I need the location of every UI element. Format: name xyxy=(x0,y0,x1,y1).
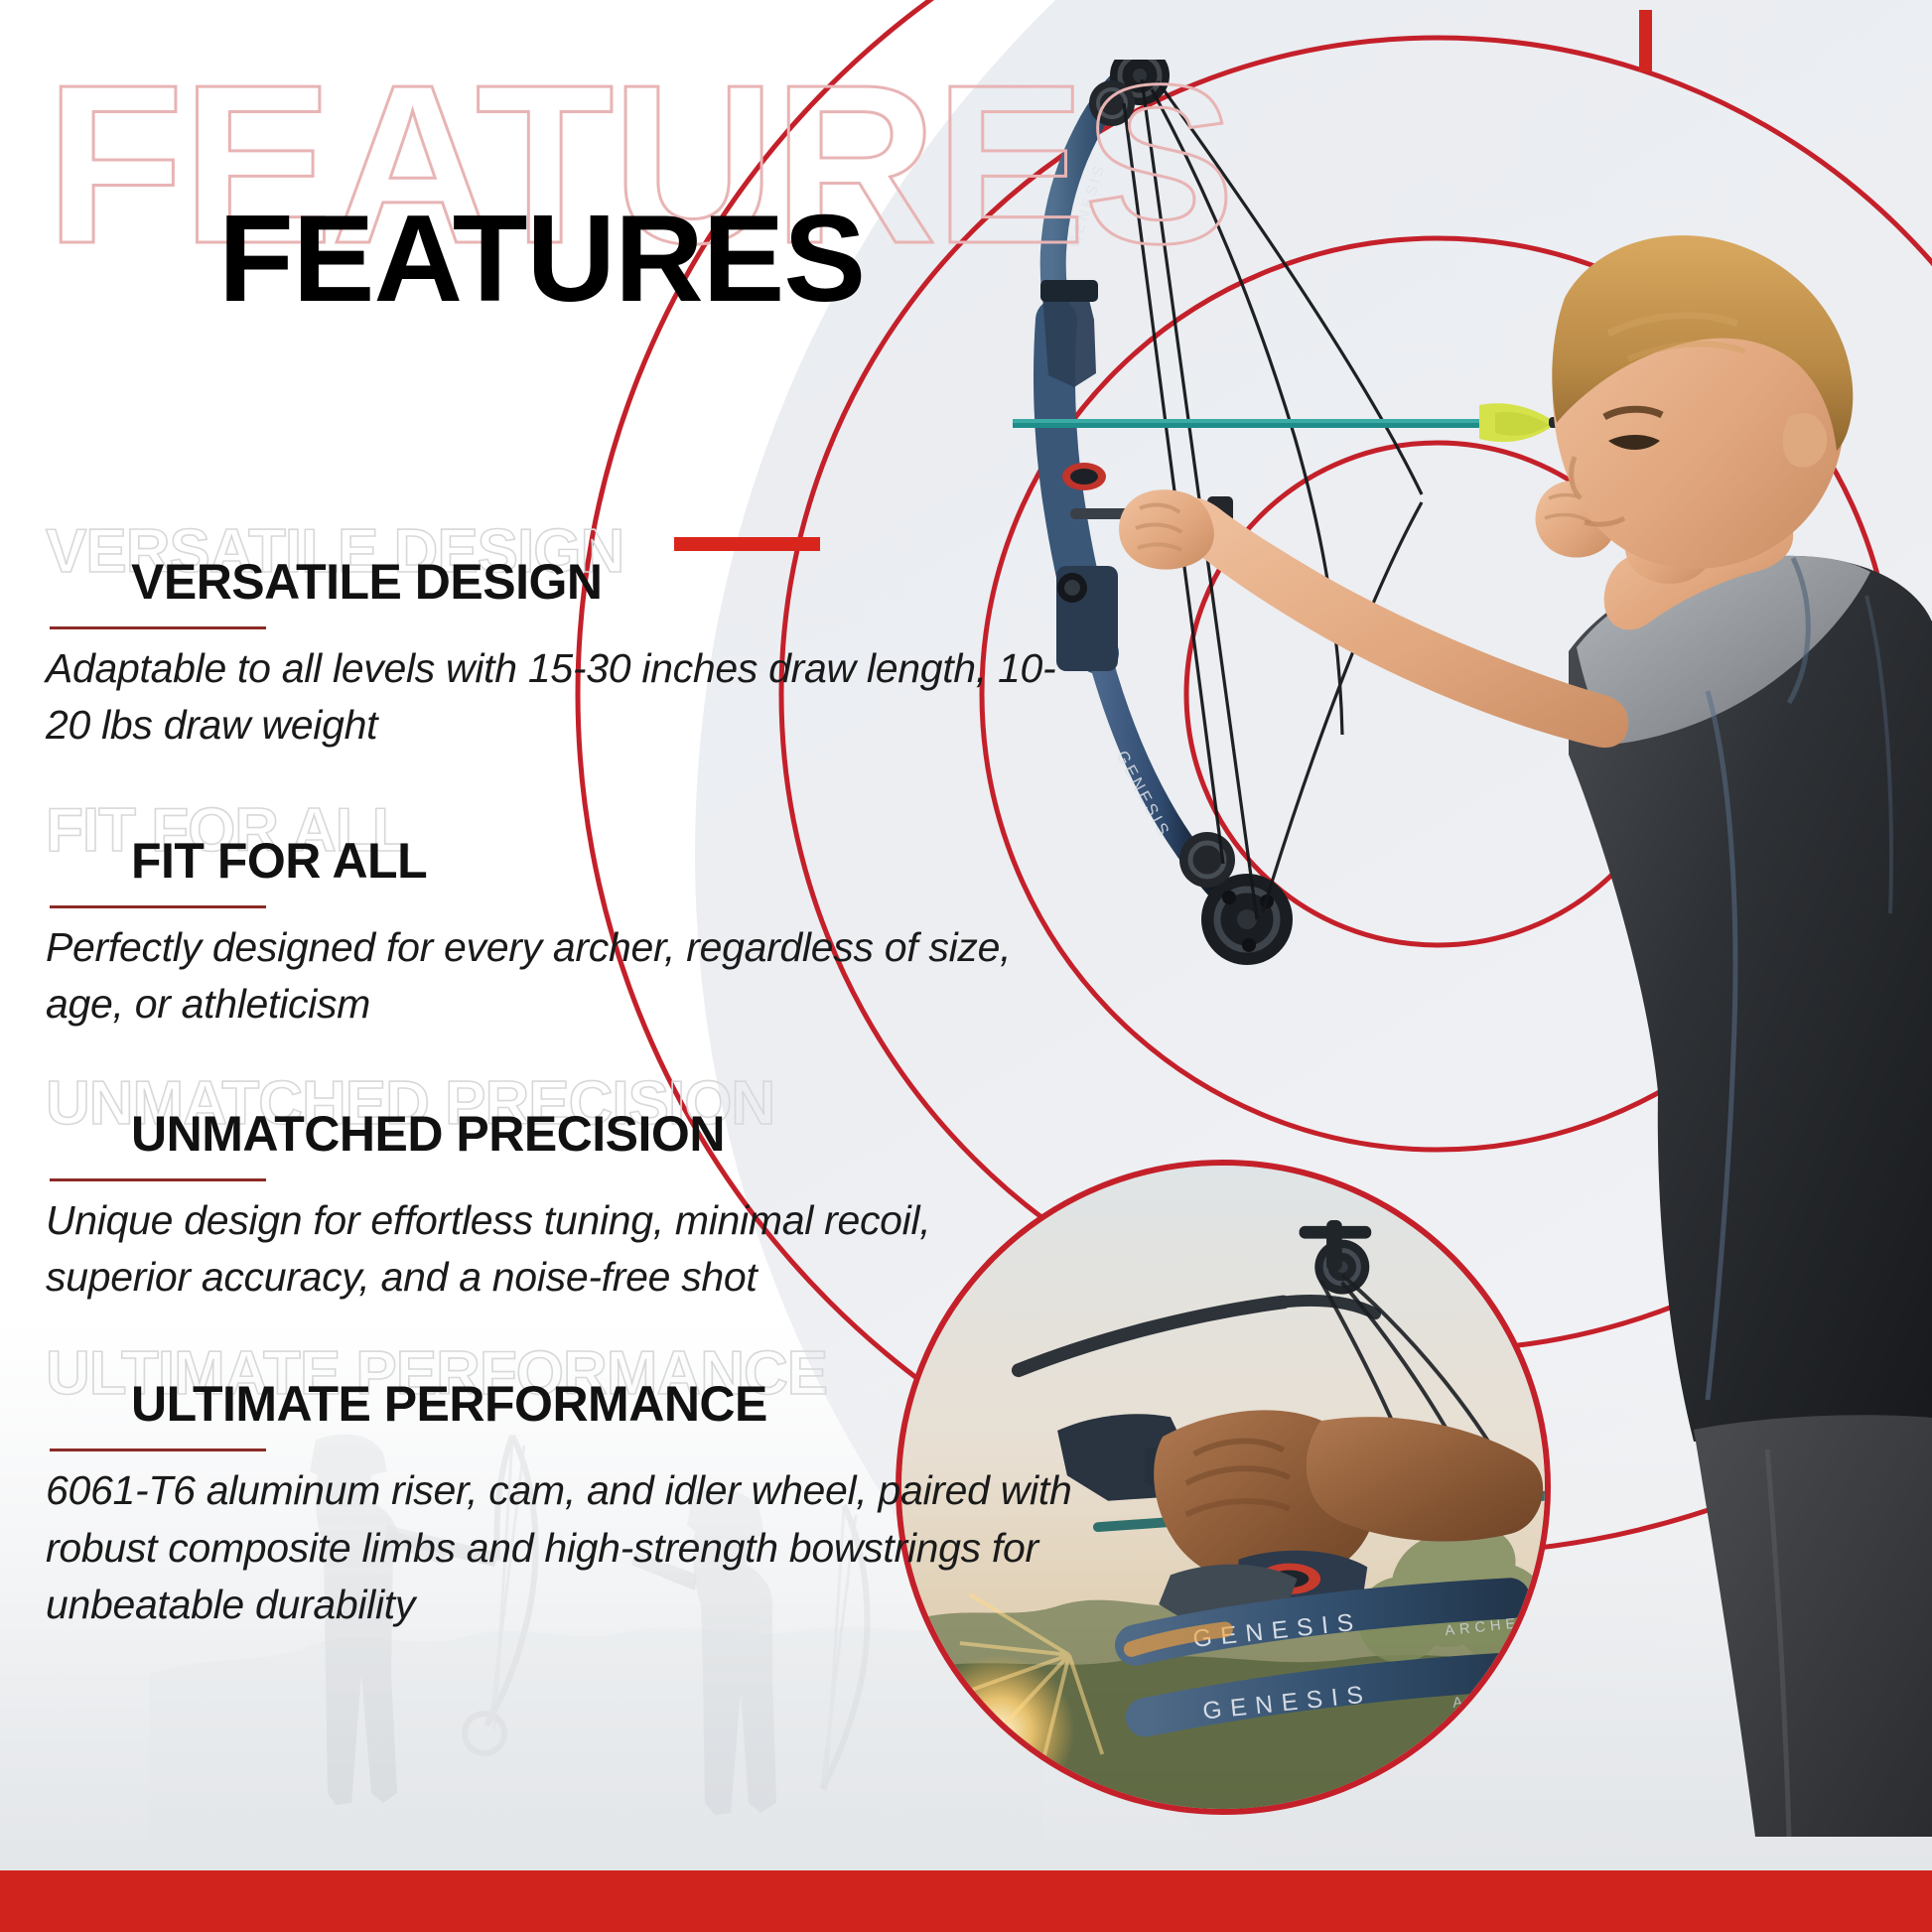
feature-heading-rule xyxy=(50,905,266,908)
feature-item: UNMATCHED PRECISION UNMATCHED PRECISION … xyxy=(0,1073,1112,1307)
feature-heading-rule xyxy=(50,1449,266,1451)
feature-item: VERSATILE DESIGN VERSATILE DESIGN Adapta… xyxy=(0,521,1112,755)
feature-heading-group: FIT FOR ALL FIT FOR ALL xyxy=(0,800,1112,919)
feature-heading: FIT FOR ALL xyxy=(131,836,427,886)
feature-heading-rule xyxy=(50,626,266,629)
feature-heading-group: ULTIMATE PERFORMANCE ULTIMATE PERFORMANC… xyxy=(0,1343,1112,1462)
bottom-red-bar xyxy=(0,1870,1932,1932)
top-tick-mark xyxy=(1639,10,1652,71)
feature-body: 6061-T6 aluminum riser, cam, and idler w… xyxy=(46,1462,1078,1633)
feature-heading: VERSATILE DESIGN xyxy=(131,557,602,607)
feature-heading: ULTIMATE PERFORMANCE xyxy=(131,1379,767,1429)
feature-heading: UNMATCHED PRECISION xyxy=(131,1109,725,1159)
feature-heading-group: VERSATILE DESIGN VERSATILE DESIGN xyxy=(0,521,1112,640)
feature-item: ULTIMATE PERFORMANCE ULTIMATE PERFORMANC… xyxy=(0,1343,1112,1633)
feature-body: Adaptable to all levels with 15-30 inche… xyxy=(46,640,1078,755)
feature-item: FIT FOR ALL FIT FOR ALL Perfectly design… xyxy=(0,800,1112,1034)
feature-body: Unique design for effortless tuning, min… xyxy=(46,1192,1078,1307)
page-title-solid: FEATURES xyxy=(218,198,865,321)
feature-heading-group: UNMATCHED PRECISION UNMATCHED PRECISION xyxy=(0,1073,1112,1192)
poster-canvas: GENESIS GENESIS xyxy=(0,0,1932,1932)
feature-list: VERSATILE DESIGN VERSATILE DESIGN Adapta… xyxy=(0,521,1112,1658)
feature-heading-rule xyxy=(50,1178,266,1181)
feature-body: Perfectly designed for every archer, reg… xyxy=(46,919,1078,1034)
